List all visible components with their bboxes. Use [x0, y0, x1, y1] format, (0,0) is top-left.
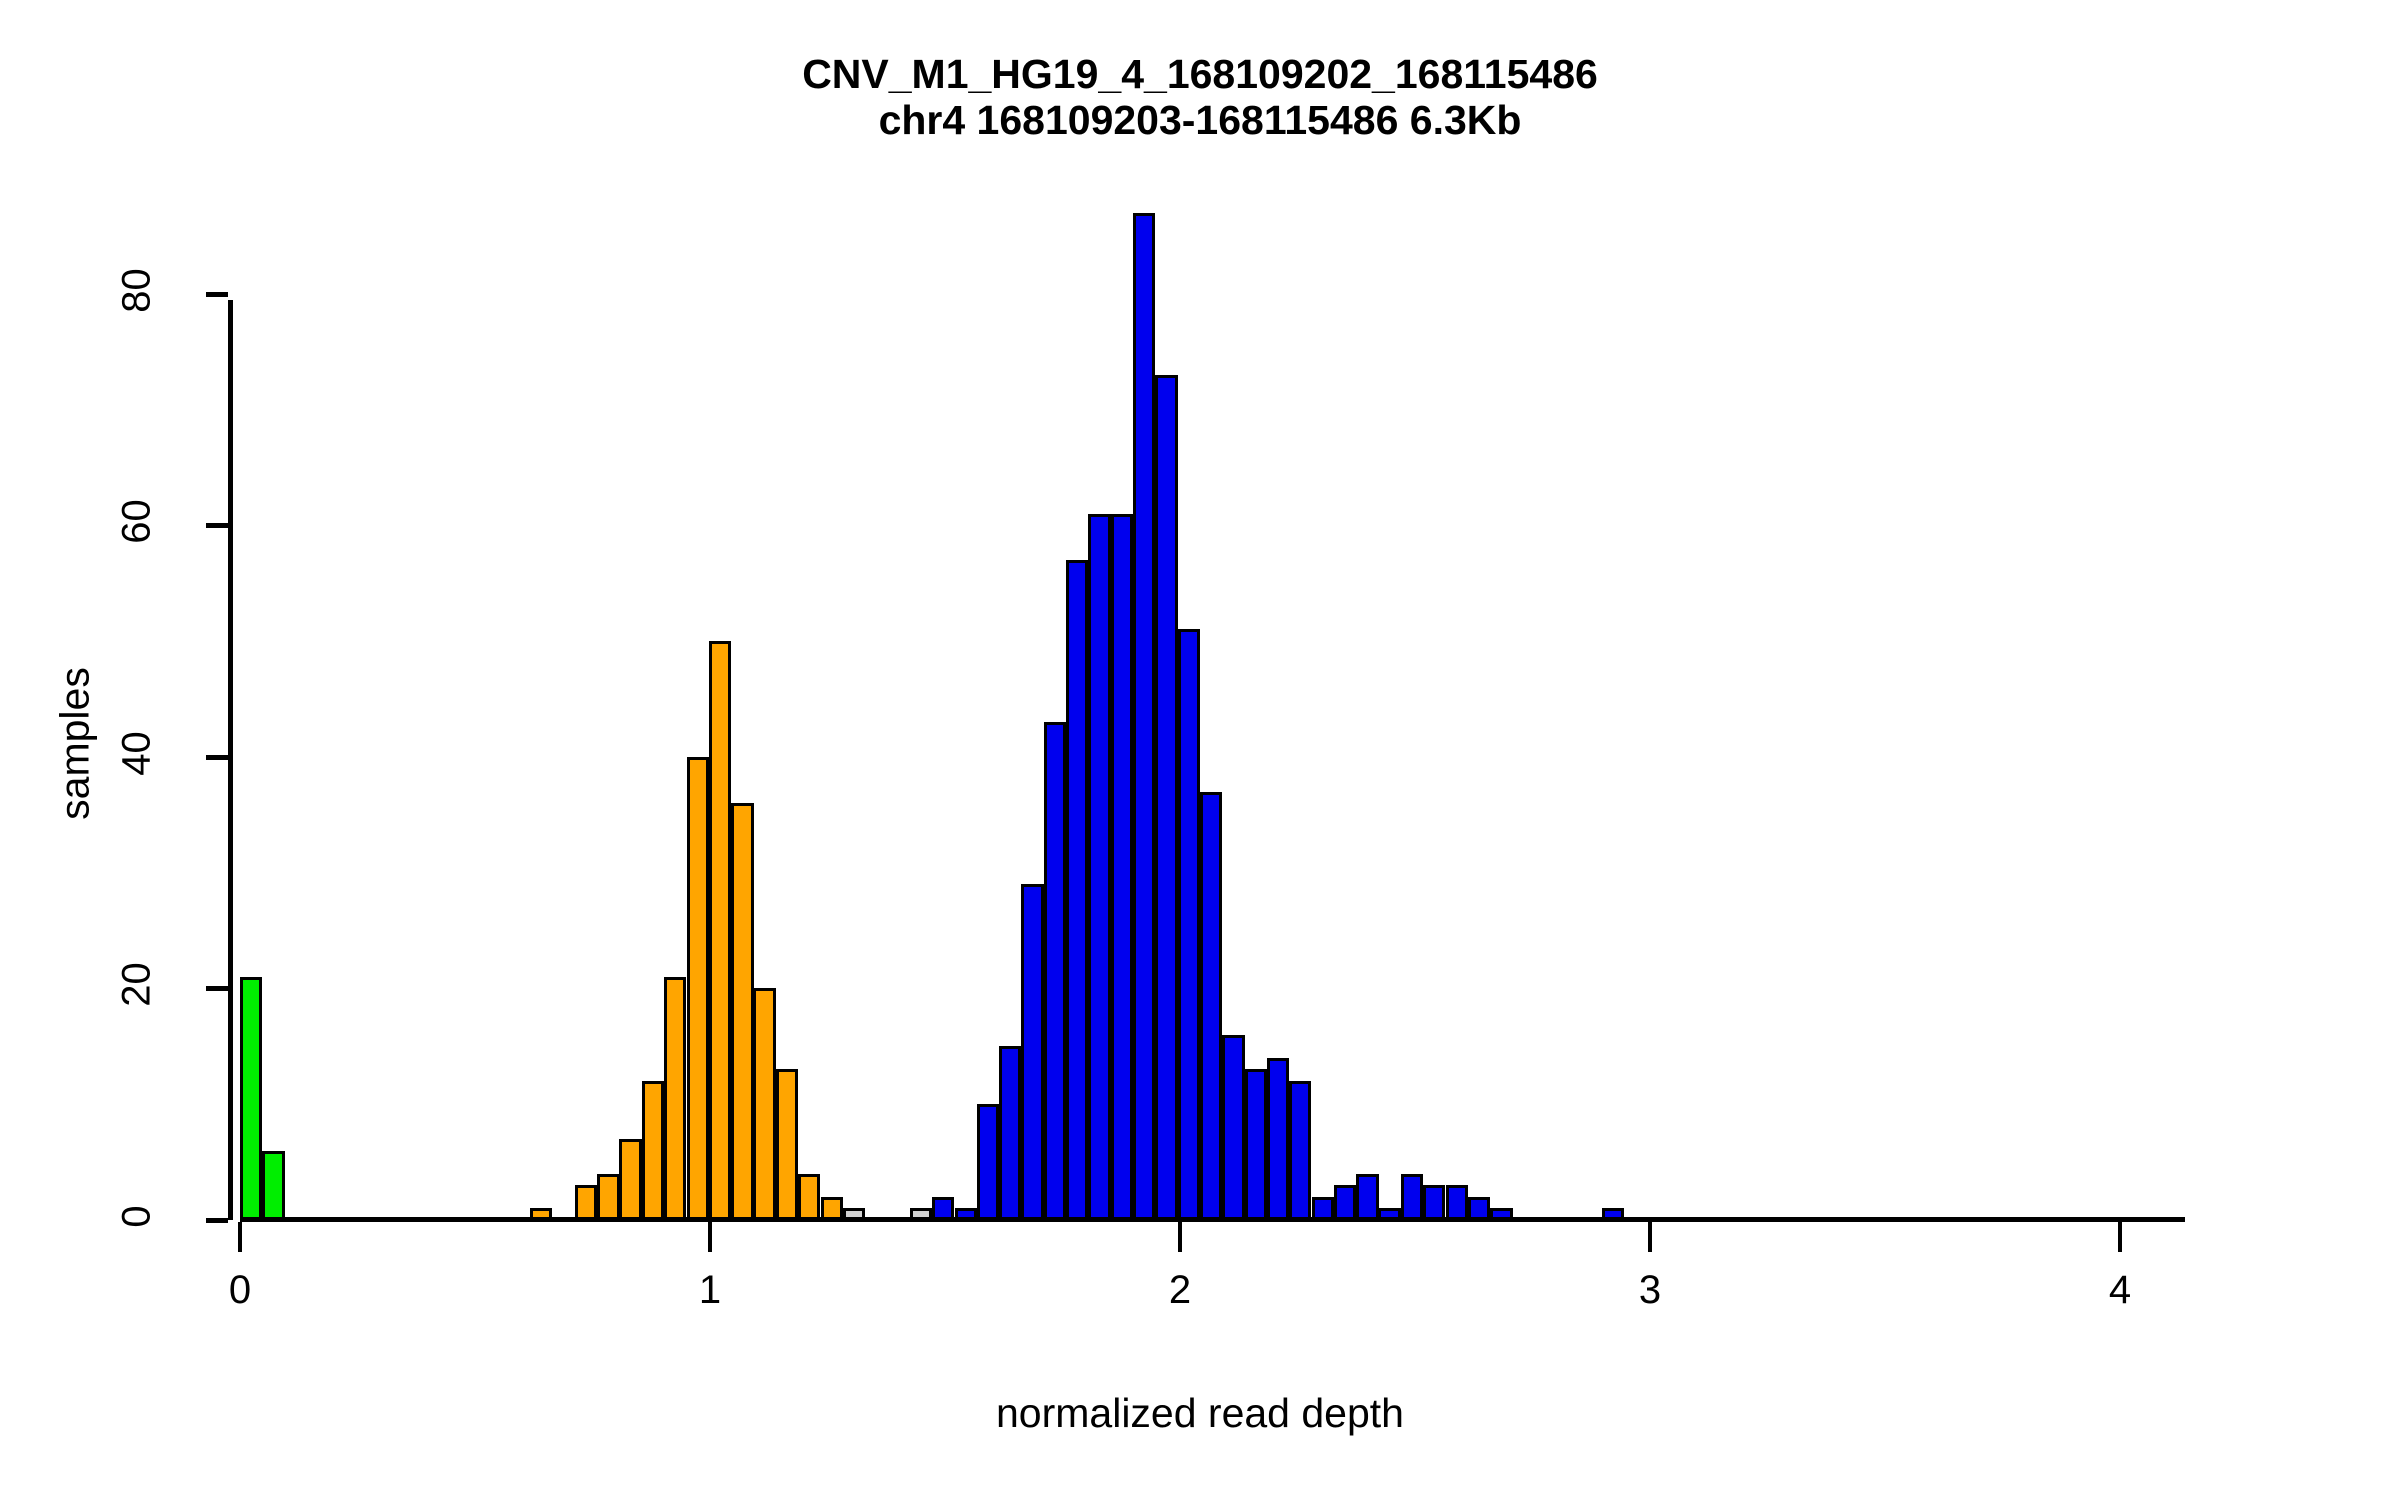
- histogram-bar: [687, 757, 709, 1220]
- histogram-plot: CNV_M1_HG19_4_168109202_168115486 chr4 1…: [0, 0, 2400, 1500]
- x-axis-tick-label: 2: [1140, 1268, 1220, 1313]
- histogram-bar: [709, 641, 731, 1220]
- histogram-bar: [1334, 1185, 1356, 1220]
- histogram-bar: [262, 1151, 284, 1220]
- y-axis-tick-label: 80: [115, 245, 160, 335]
- histogram-bar: [776, 1069, 798, 1220]
- histogram-bar: [1021, 884, 1043, 1220]
- histogram-bar: [575, 1185, 597, 1220]
- y-axis-tick-label: 60: [115, 477, 160, 567]
- x-axis-tick: [1648, 1222, 1652, 1252]
- histogram-bar: [1245, 1069, 1267, 1220]
- histogram-bar: [1423, 1185, 1445, 1220]
- histogram-bar: [1133, 213, 1155, 1220]
- histogram-bar: [1289, 1081, 1311, 1220]
- x-axis-line: [240, 1217, 2185, 1222]
- histogram-bar: [1200, 792, 1222, 1220]
- histogram-bar: [619, 1139, 641, 1220]
- x-axis-tick-label: 0: [200, 1268, 280, 1313]
- histogram-bar: [1066, 560, 1088, 1220]
- x-axis-tick-label: 1: [670, 1268, 750, 1313]
- histogram-bar: [1222, 1035, 1244, 1220]
- x-axis-tick-label: 4: [2080, 1268, 2160, 1313]
- y-axis-tick: [206, 1218, 228, 1223]
- histogram-bar: [977, 1104, 999, 1220]
- histogram-bar: [1446, 1185, 1468, 1220]
- histogram-bar: [1178, 629, 1200, 1220]
- histogram-bar: [1401, 1174, 1423, 1220]
- histogram-bar: [1267, 1058, 1289, 1220]
- histogram-bar: [753, 988, 775, 1220]
- y-axis-tick: [206, 755, 228, 760]
- histogram-bar: [664, 977, 686, 1220]
- y-axis-line: [228, 300, 233, 1220]
- histogram-bar: [999, 1046, 1021, 1220]
- histogram-bar: [1356, 1174, 1378, 1220]
- histogram-bar: [1155, 375, 1177, 1220]
- x-axis-tick-label: 3: [1610, 1268, 1690, 1313]
- y-axis-tick-label: 20: [115, 940, 160, 1030]
- x-axis-tick: [238, 1222, 242, 1252]
- histogram-bar: [731, 803, 753, 1220]
- histogram-bar: [798, 1174, 820, 1220]
- histogram-bar: [240, 977, 262, 1220]
- y-axis-tick-label: 40: [115, 708, 160, 798]
- histogram-bar: [1111, 514, 1133, 1220]
- x-axis-tick: [708, 1222, 712, 1252]
- y-axis-tick: [206, 523, 228, 528]
- histogram-bar: [642, 1081, 664, 1220]
- histogram-bar: [1044, 722, 1066, 1220]
- y-axis-title: samples: [52, 594, 99, 894]
- y-axis-tick: [206, 986, 228, 991]
- y-axis-tick-label: 0: [115, 1172, 160, 1262]
- histogram-bar: [1088, 514, 1110, 1220]
- x-axis-tick: [2118, 1222, 2122, 1252]
- histogram-bar: [597, 1174, 619, 1220]
- y-axis-tick: [206, 292, 228, 297]
- x-axis-title: normalized read depth: [0, 1390, 2400, 1437]
- x-axis-tick: [1178, 1222, 1182, 1252]
